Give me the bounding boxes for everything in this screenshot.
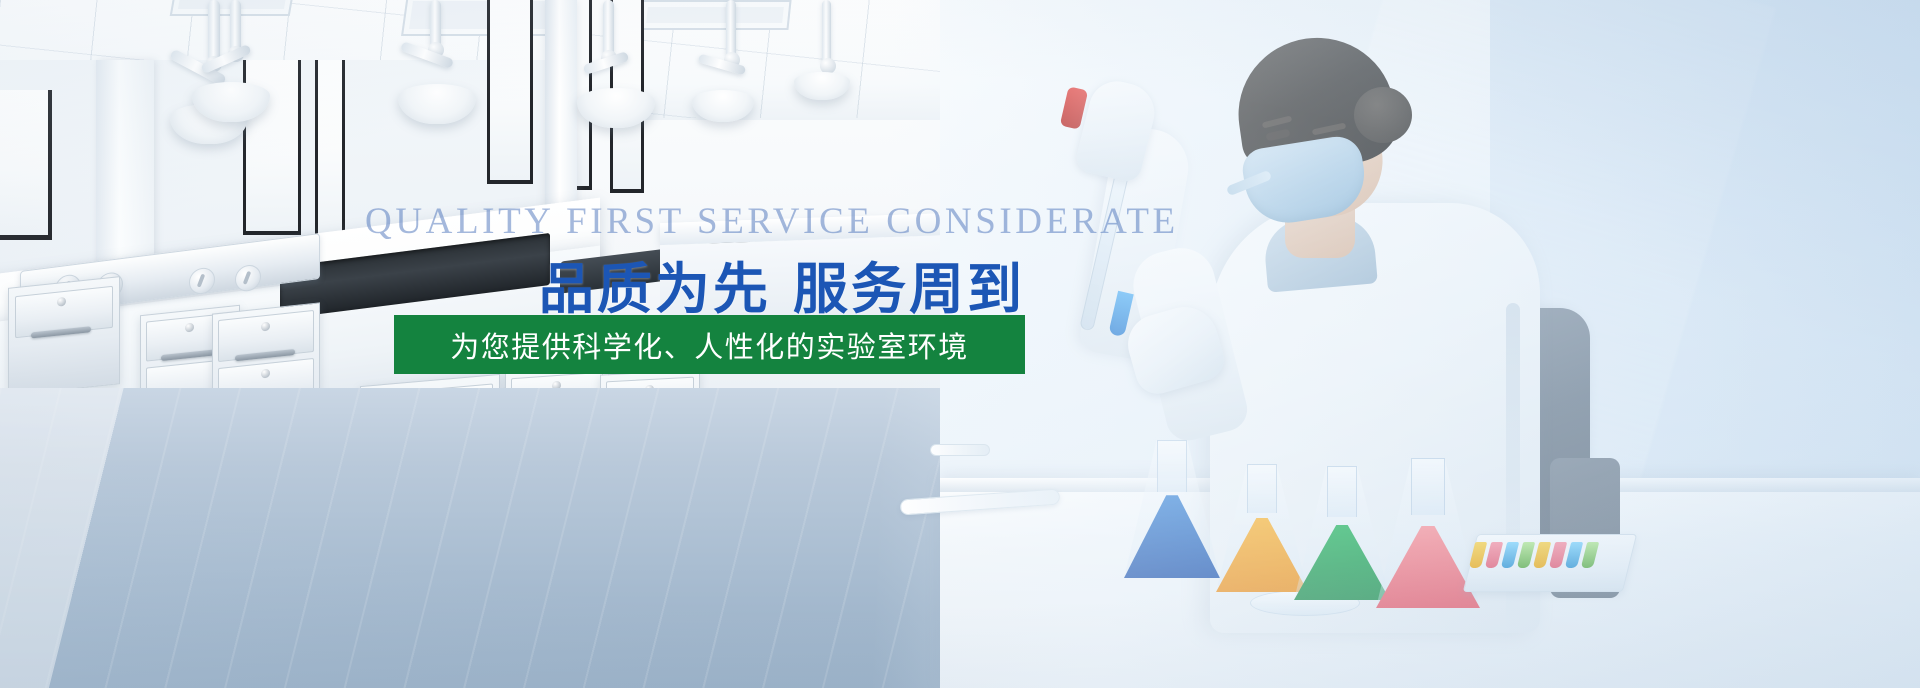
flask-blue	[1124, 440, 1220, 578]
window	[315, 60, 345, 245]
cabinet	[8, 276, 120, 396]
test-tubes	[1469, 542, 1625, 568]
ceiling-vent	[638, 0, 791, 30]
power-socket	[189, 266, 215, 295]
small-tube-on-counter	[930, 444, 990, 456]
promo-banner: QUALITY FIRST SERVICE CONSIDERATE 品质为先 服…	[0, 0, 1920, 688]
window	[487, 0, 533, 184]
lab-background-photo	[0, 0, 1920, 688]
hair-bun	[1354, 87, 1412, 143]
window	[0, 90, 52, 240]
